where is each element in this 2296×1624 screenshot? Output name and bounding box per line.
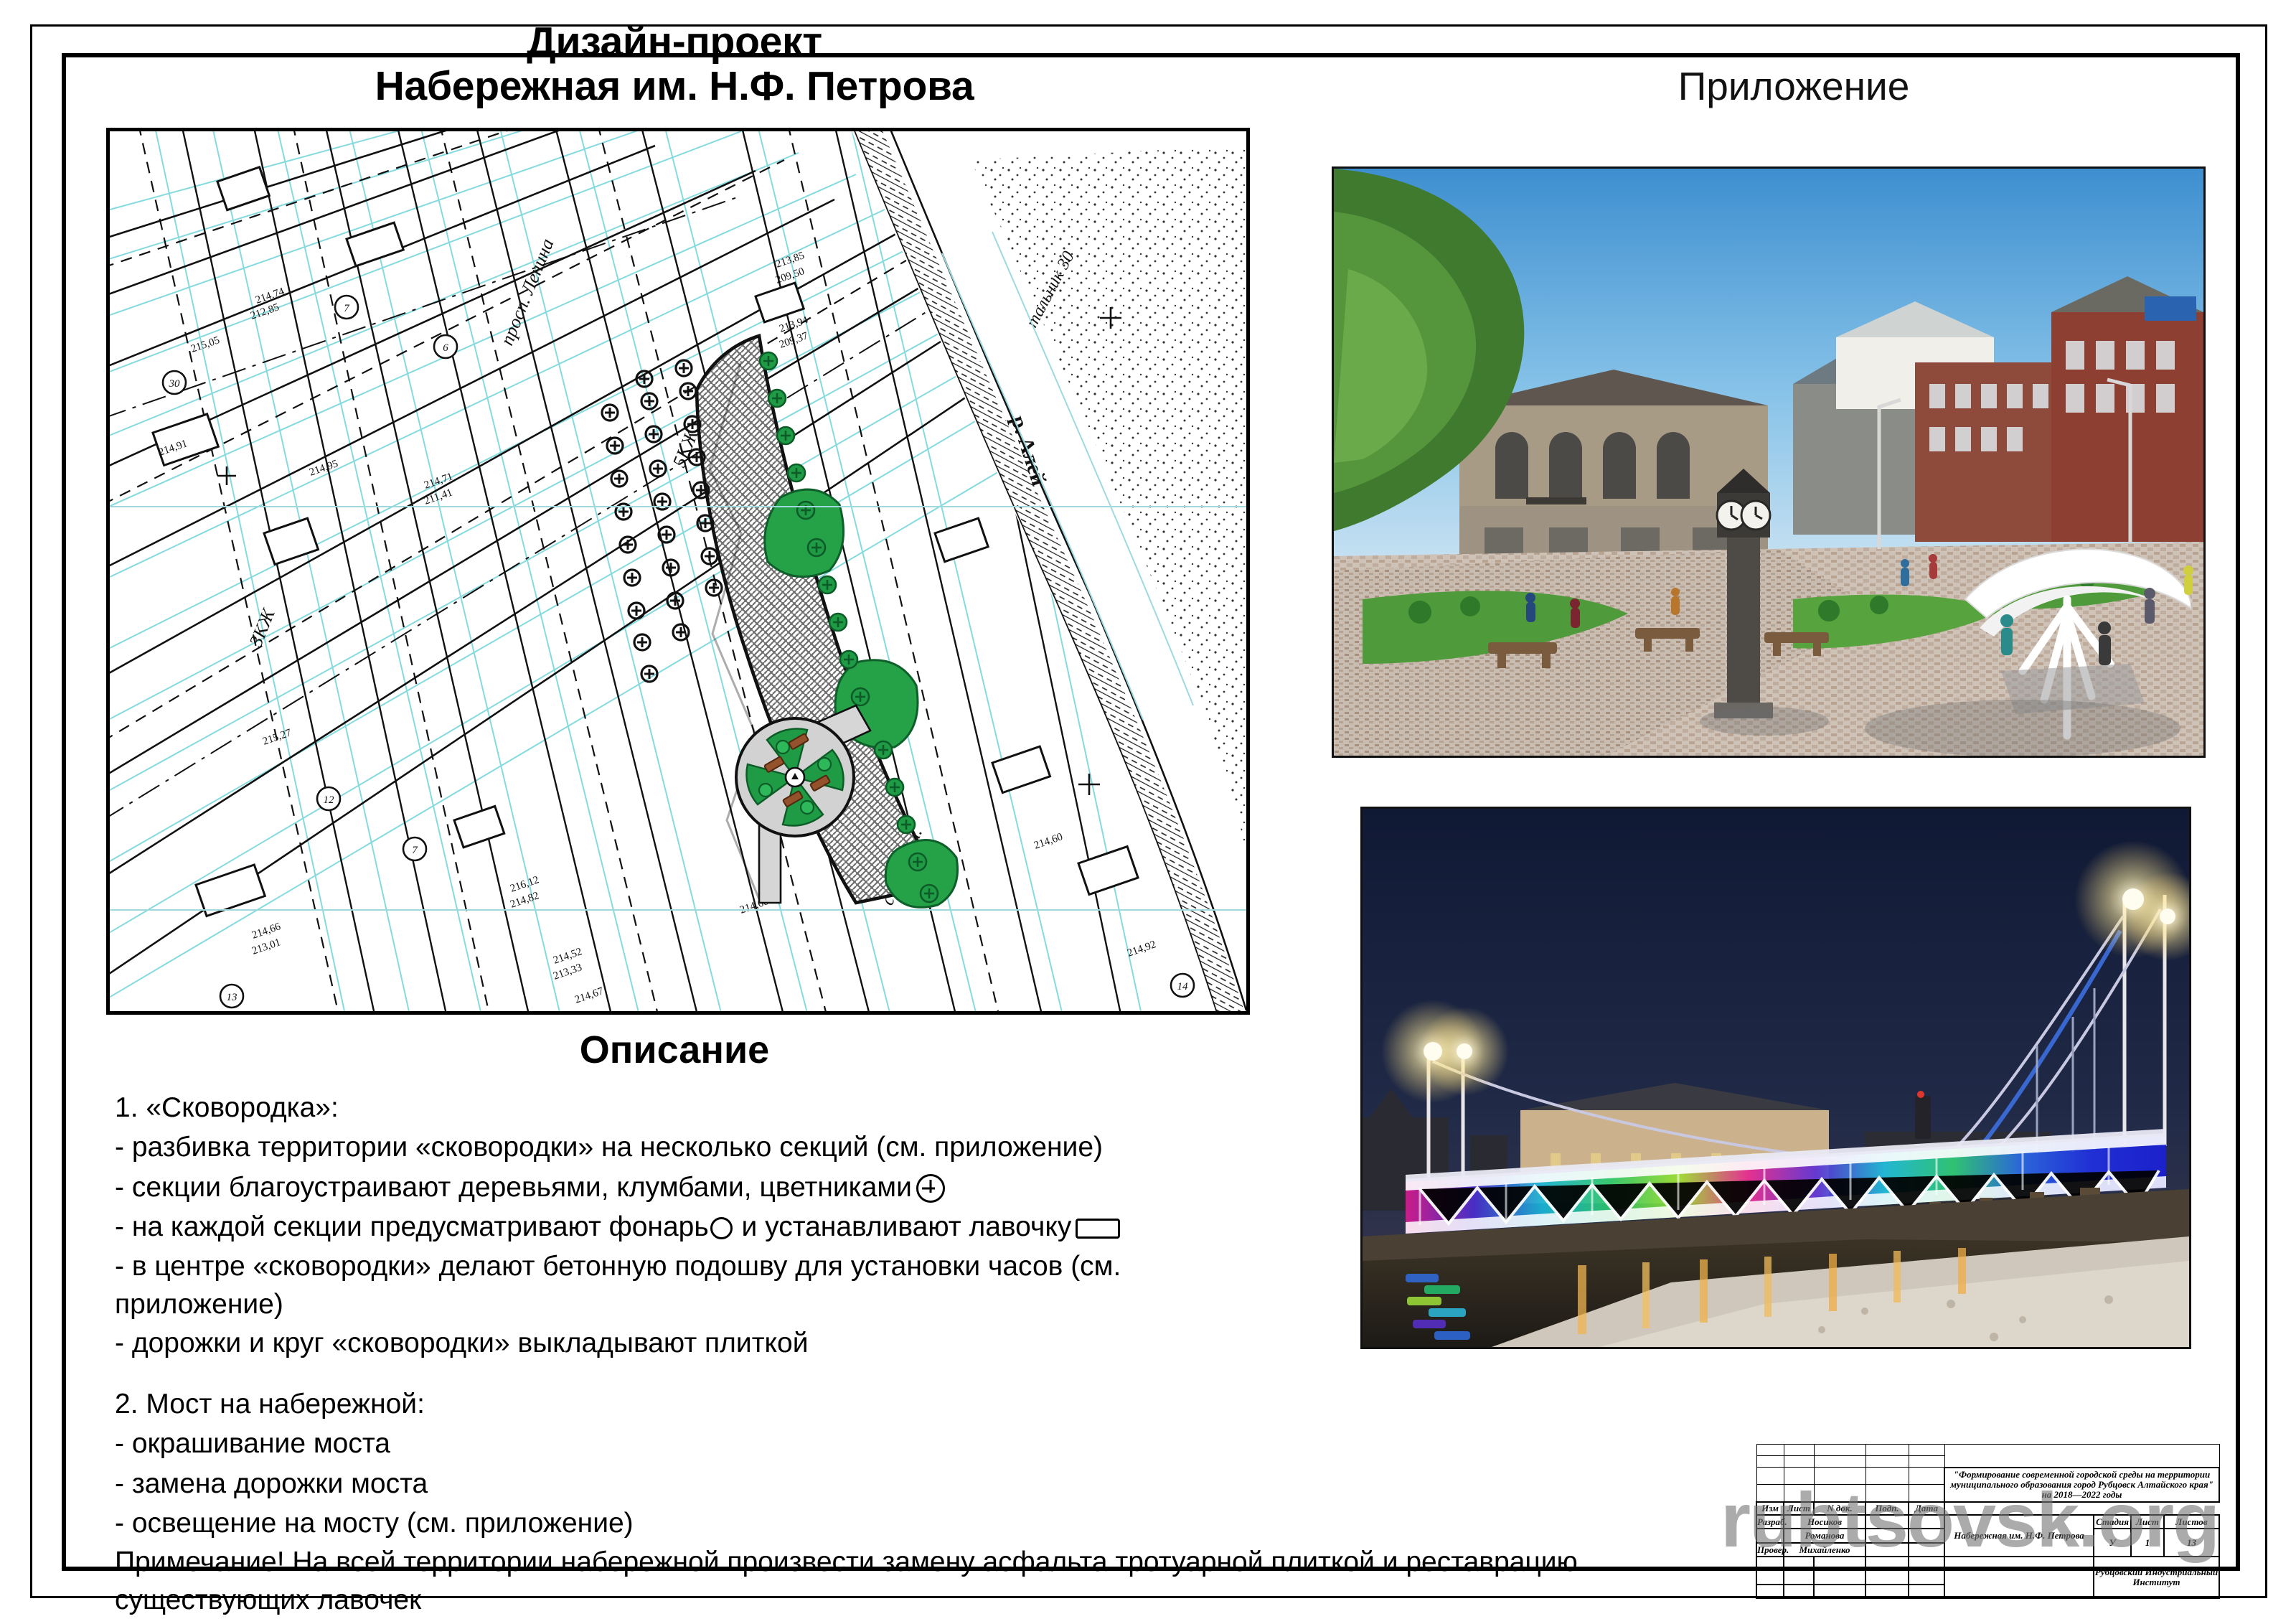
description-item-text-2: и устанавливают лавочку: [734, 1211, 1072, 1242]
svg-text:30: 30: [169, 378, 181, 390]
stamp-cell: [1909, 1529, 1944, 1542]
stamp-cell: [1909, 1485, 1944, 1502]
photo-plaza-render[interactable]: [1332, 166, 2206, 758]
stamp-cell: [1784, 1445, 1814, 1456]
stamp-cell: [1909, 1543, 1944, 1557]
stamp-col-ndok: N док.: [1814, 1502, 1865, 1515]
stamp-cell: [1814, 1570, 1865, 1584]
stamp-col-podp: Подп.: [1865, 1502, 1909, 1515]
stamp-cell: [1814, 1456, 1865, 1468]
stamp-cell: [1814, 1445, 1865, 1456]
program-title: "Формирование современной городской сред…: [1944, 1468, 2219, 1502]
stamp-cell: [1909, 1445, 1944, 1456]
stamp-role-razrab: Разраб.: [1756, 1515, 1784, 1529]
stamp-cell: [1865, 1515, 1909, 1529]
stamp-cell: [1756, 1485, 1784, 1502]
stamp-cell: [1784, 1557, 1814, 1570]
drawing-sheet: Дизайн-проект Набережная им. Н.Ф. Петров…: [0, 0, 2296, 1624]
stamp-cell-blank: [1944, 1445, 2219, 1468]
description-item-text: - в центре «сковородки» делают бетонную …: [115, 1251, 1121, 1320]
organization-name: Рубцовский Индустриальный Институт: [2094, 1557, 2219, 1598]
description-item: - в центре «сковородки» делают бетонную …: [115, 1247, 1263, 1323]
description-item-text: - разбивка территории «сковородки» на не…: [115, 1132, 1103, 1163]
svg-text:13: 13: [227, 992, 237, 1003]
spacer: [115, 1363, 1758, 1384]
stamp-cell: [1784, 1485, 1814, 1502]
bridge-night-svg: [1363, 809, 2189, 1347]
svg-text:6: 6: [443, 342, 448, 354]
stamp-meta-stadia: Стадия: [2094, 1515, 2131, 1529]
stamp-cell: [1814, 1557, 1865, 1570]
stamp-role-prover: Провер.: [1756, 1543, 1784, 1557]
description-section2-title: 2. Мост на набережной:: [115, 1384, 1758, 1424]
page-title: Дизайн-проект Набережная им. Н.Ф. Петров…: [100, 20, 1248, 108]
stamp-cell: [1784, 1456, 1814, 1468]
stamp-cell: [1814, 1585, 1865, 1598]
stamp-cell: [1909, 1557, 1944, 1570]
stamp-cell: [1909, 1515, 1944, 1529]
stamp-name-prover: Михайленко: [1784, 1543, 1865, 1557]
stamp-cell: [1865, 1468, 1909, 1485]
description-item-text: - дорожки и круг «сковородки» выкладываю…: [115, 1328, 809, 1358]
stamp-cell: [1784, 1468, 1814, 1485]
stamp-role-empty: [1756, 1529, 1784, 1542]
stamp-cell: [1909, 1468, 1944, 1485]
stamp-meta-listov: Листов: [2164, 1515, 2219, 1529]
stamp-name-second: Романова: [1784, 1529, 1865, 1542]
photo-bridge-night[interactable]: [1360, 807, 2191, 1349]
description-item-text: - на каждой секции предусматривают фонар…: [115, 1211, 709, 1242]
stamp-value-list: 1: [2131, 1529, 2164, 1557]
title-line-2: Набережная им. Н.Ф. Петрова: [100, 65, 1248, 109]
stamp-cell: [1756, 1468, 1784, 1485]
stamp-col-data: Дата: [1909, 1502, 1944, 1515]
description-heading: Описание: [108, 1028, 1241, 1072]
description-item-text: - секции благоустраивают деревьями, клум…: [115, 1172, 912, 1203]
stamp-cell: [1756, 1585, 1784, 1598]
lamp-circle-icon: [710, 1217, 733, 1239]
stamp-cell: [1865, 1529, 1909, 1542]
stamp-meta-list: Лист: [2131, 1515, 2164, 1529]
site-plan-svg: 76 305 127 1314 214.74 212,85 215,05 213…: [110, 131, 1246, 1011]
stamp-cell: [1756, 1445, 1784, 1456]
stamp-cell: [1756, 1456, 1784, 1468]
stamp-col-list: Лист: [1784, 1502, 1814, 1515]
svg-text:12: 12: [324, 794, 335, 806]
plaza-render-svg: [1334, 169, 2203, 756]
title-block-stamp[interactable]: "Формирование современной городской сред…: [1756, 1444, 2219, 1599]
stamp-cell: [1909, 1570, 1944, 1584]
stamp-cell: [1756, 1570, 1784, 1584]
stamp-cell: [1814, 1485, 1865, 1502]
stamp-cell: [1865, 1585, 1909, 1598]
stamp-cell: [1756, 1557, 1784, 1570]
site-plan-drawing[interactable]: 76 305 127 1314 214.74 212,85 215,05 213…: [106, 128, 1250, 1015]
stamp-col-izm: Изм: [1756, 1502, 1784, 1515]
object-title: Набережная им. Н.Ф. Петрова: [1944, 1515, 2094, 1557]
stamp-value-stadia: У: [2094, 1529, 2131, 1557]
stamp-cell: [1814, 1468, 1865, 1485]
tree-plus-icon: [916, 1174, 945, 1203]
stamp-cell: [1784, 1585, 1814, 1598]
svg-text:14: 14: [1177, 981, 1189, 992]
stamp-cell: [1909, 1456, 1944, 1468]
description-item: - замена дорожки моста: [115, 1464, 1758, 1503]
stamp-cell: [1865, 1485, 1909, 1502]
description-item: - окрашивание моста: [115, 1424, 1758, 1463]
stamp-table: "Формирование современной городской сред…: [1756, 1444, 2220, 1599]
description-note: Примечание! На всей территории набережно…: [115, 1543, 1751, 1619]
stamp-cell: [1865, 1543, 1909, 1557]
stamp-cell-blank: [1944, 1557, 2094, 1598]
stamp-name-razrab: Носиков: [1784, 1515, 1865, 1529]
stamp-value-listov: 13: [2164, 1529, 2219, 1557]
stamp-cell: [1784, 1570, 1814, 1584]
stamp-cell: [1909, 1585, 1944, 1598]
title-line-1: Дизайн-проект: [100, 20, 1248, 65]
stamp-cell: [1865, 1557, 1909, 1570]
stamp-cell: [1865, 1445, 1909, 1456]
annex-title: Приложение: [1363, 63, 2224, 109]
description-item: - освещение на мосту (см. приложение): [115, 1503, 1758, 1543]
bench-rect-icon: [1076, 1219, 1120, 1239]
stamp-cell: [1865, 1456, 1909, 1468]
stamp-cell: [1865, 1570, 1909, 1584]
